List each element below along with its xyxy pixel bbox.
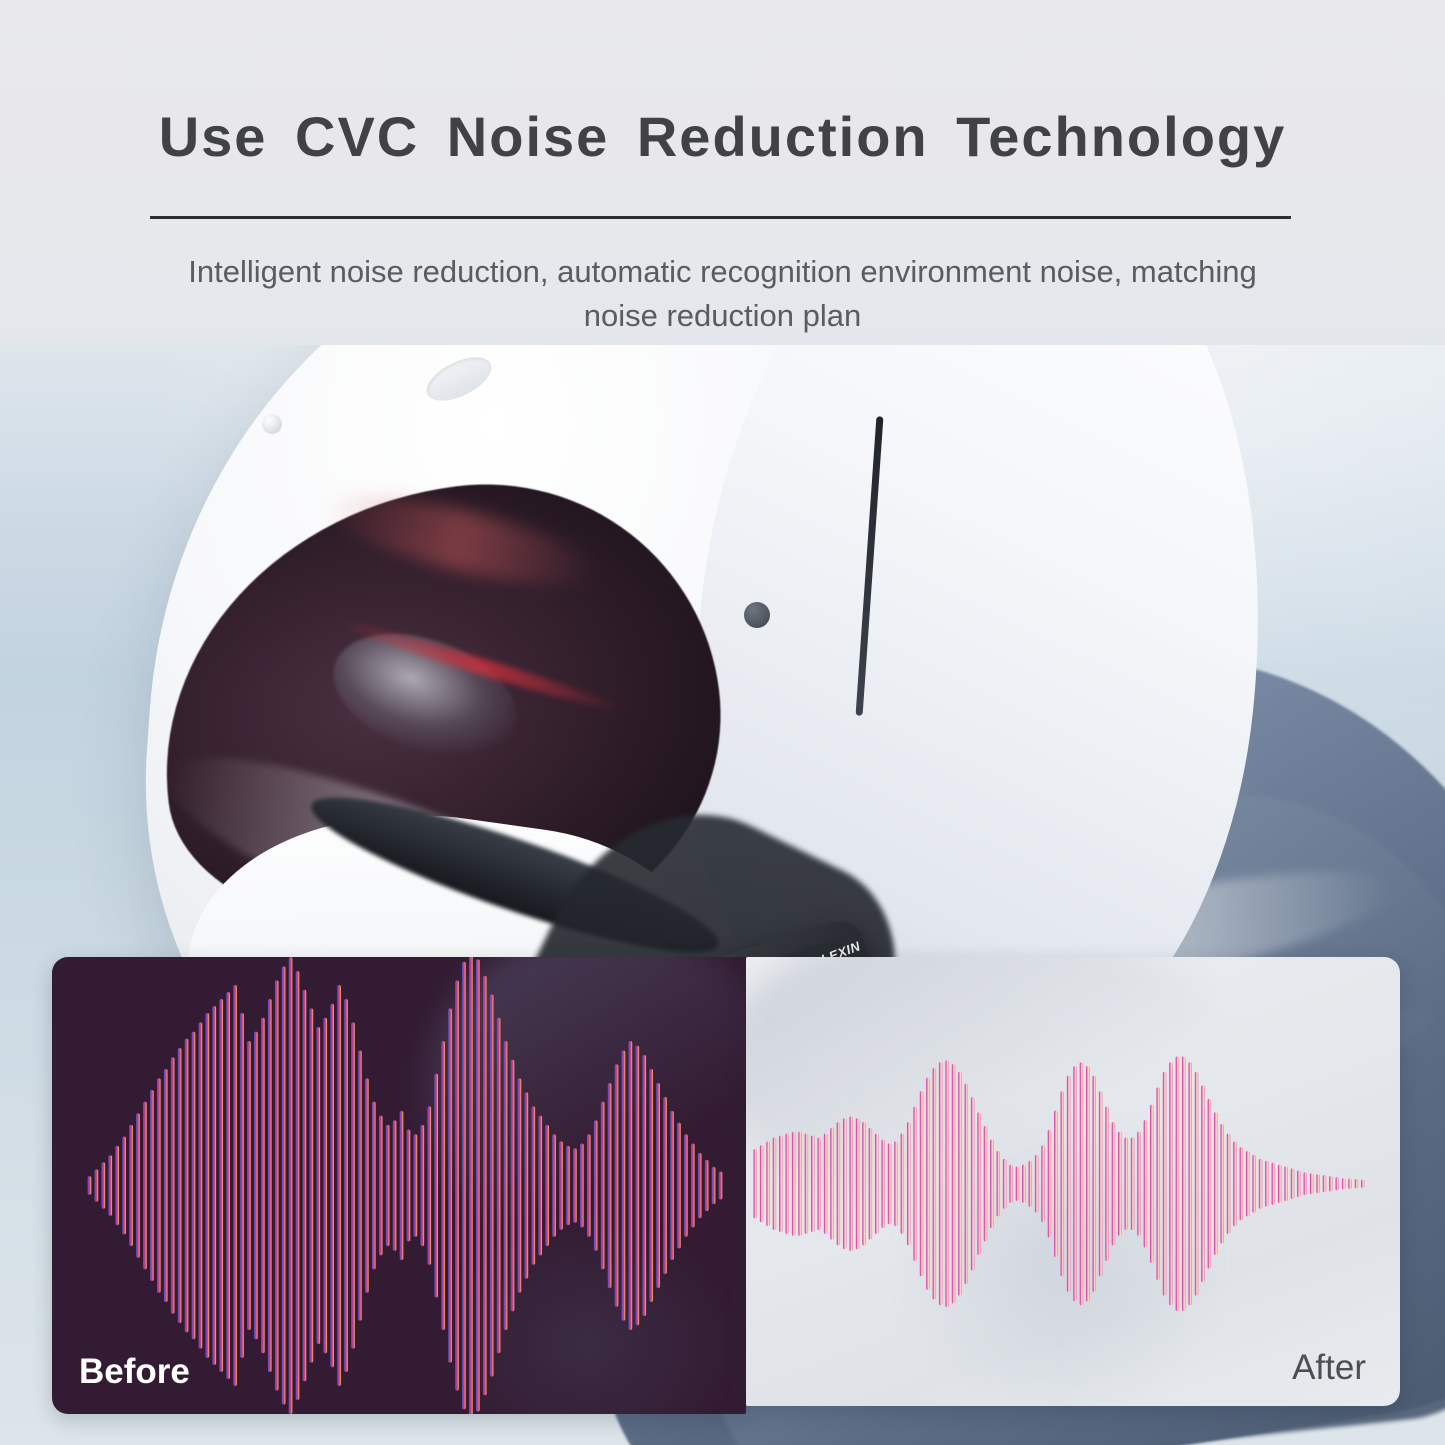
before-label: Before <box>79 1352 190 1392</box>
before-panel: Before <box>52 957 746 1414</box>
page-subtitle: Intelligent noise reduction, automatic r… <box>170 250 1275 339</box>
after-waveform-chart <box>746 957 1400 1406</box>
product-feature-page: A B + – FM ☎ LEXIN MOTO Use CVC Noise Re… <box>0 0 1445 1445</box>
header-band: Use CVC Noise Reduction Technology Intel… <box>0 0 1445 345</box>
after-panel: After <box>746 957 1400 1406</box>
antenna-base-screw <box>744 602 770 628</box>
page-title: Use CVC Noise Reduction Technology <box>0 104 1445 169</box>
title-divider <box>150 216 1291 219</box>
before-waveform-chart <box>52 957 746 1414</box>
helmet-pivot-screw <box>262 414 282 434</box>
after-label: After <box>1292 1348 1366 1388</box>
